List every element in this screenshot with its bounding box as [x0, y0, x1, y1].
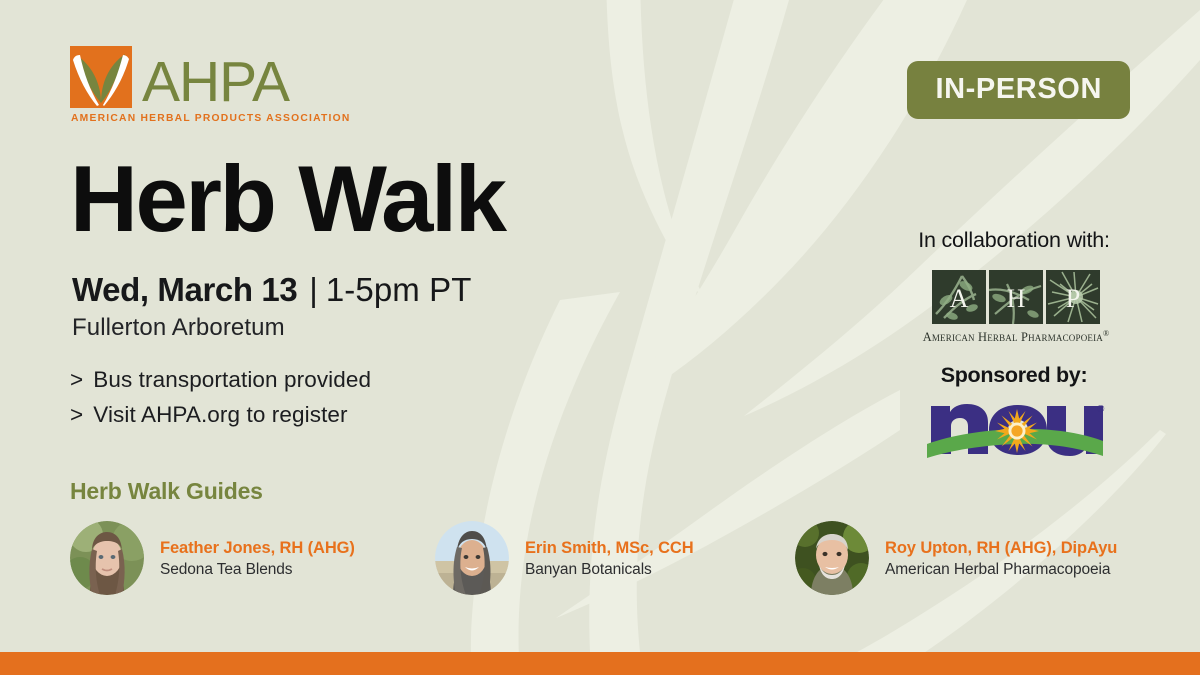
chevron-right-icon: >: [70, 363, 83, 398]
guides-heading: Herb Walk Guides: [70, 478, 263, 505]
ahp-logo-name: American Herbal Pharmacopoeia®: [905, 329, 1127, 345]
ahp-tile-a: A: [932, 270, 986, 324]
guide-name: Roy Upton, RH (AHG), DipAyu: [885, 537, 1117, 559]
guide-org: Banyan Botanicals: [525, 559, 694, 581]
svg-text:A: A: [950, 284, 969, 313]
svg-text:P: P: [1066, 284, 1080, 313]
list-item: Roy Upton, RH (AHG), DipAyu American Her…: [795, 521, 1140, 595]
chevron-right-icon: >: [70, 398, 83, 433]
ahp-tile-p: P: [1046, 270, 1100, 324]
ahp-logo[interactable]: A H: [905, 270, 1127, 345]
avatar-roy-upton: [795, 521, 869, 595]
ahpa-wordmark: AHPA: [142, 56, 289, 108]
ahpa-tagline: AMERICAN HERBAL PRODUCTS ASSOCIATION: [71, 113, 370, 124]
datetime-separator: |: [297, 271, 326, 308]
collaboration-label: In collaboration with:: [898, 228, 1130, 253]
list-item: > Bus transportation provided: [70, 363, 371, 398]
registered-mark-icon: ®: [1103, 329, 1109, 338]
list-item: Erin Smith, MSc, CCH Banyan Botanicals: [435, 521, 795, 595]
event-date: Wed, March 13: [72, 271, 297, 308]
avatar-feather-jones: [70, 521, 144, 595]
poster-canvas: AHPA AMERICAN HERBAL PRODUCTS ASSOCIATIO…: [0, 0, 1200, 675]
guide-org: Sedona Tea Blends: [160, 559, 355, 581]
bottom-accent-bar: [0, 652, 1200, 675]
guide-name: Feather Jones, RH (AHG): [160, 537, 355, 559]
sponsor-label: Sponsored by:: [898, 363, 1130, 388]
guide-org: American Herbal Pharmacopoeia: [885, 559, 1117, 581]
event-datetime: Wed, March 13|1-5pm PT: [72, 270, 472, 310]
now-foods-sunburst-logo[interactable]: ®: [925, 396, 1105, 467]
ahp-tile-h: H: [989, 270, 1043, 324]
event-time: 1-5pm PT: [326, 271, 472, 308]
svg-text:H: H: [1007, 284, 1026, 313]
list-item: Feather Jones, RH (AHG) Sedona Tea Blend…: [70, 521, 435, 595]
avatar-erin-smith: [435, 521, 509, 595]
list-item[interactable]: > Visit AHPA.org to register: [70, 398, 371, 433]
svg-text:®: ®: [1097, 404, 1105, 415]
ahpa-logo[interactable]: AHPA AMERICAN HERBAL PRODUCTS ASSOCIATIO…: [70, 46, 370, 124]
guide-name: Erin Smith, MSc, CCH: [525, 537, 694, 559]
event-details-list: > Bus transportation provided > Visit AH…: [70, 363, 371, 433]
page-title: Herb Walk: [70, 152, 505, 246]
guides-list: Feather Jones, RH (AHG) Sedona Tea Blend…: [70, 521, 1140, 595]
list-item-label: Bus transportation provided: [93, 363, 371, 398]
status-badge-in-person: IN-PERSON: [907, 61, 1130, 119]
leaf-logo-icon: [70, 46, 132, 108]
event-venue: Fullerton Arboretum: [72, 314, 285, 342]
list-item-label: Visit AHPA.org to register: [93, 398, 347, 433]
